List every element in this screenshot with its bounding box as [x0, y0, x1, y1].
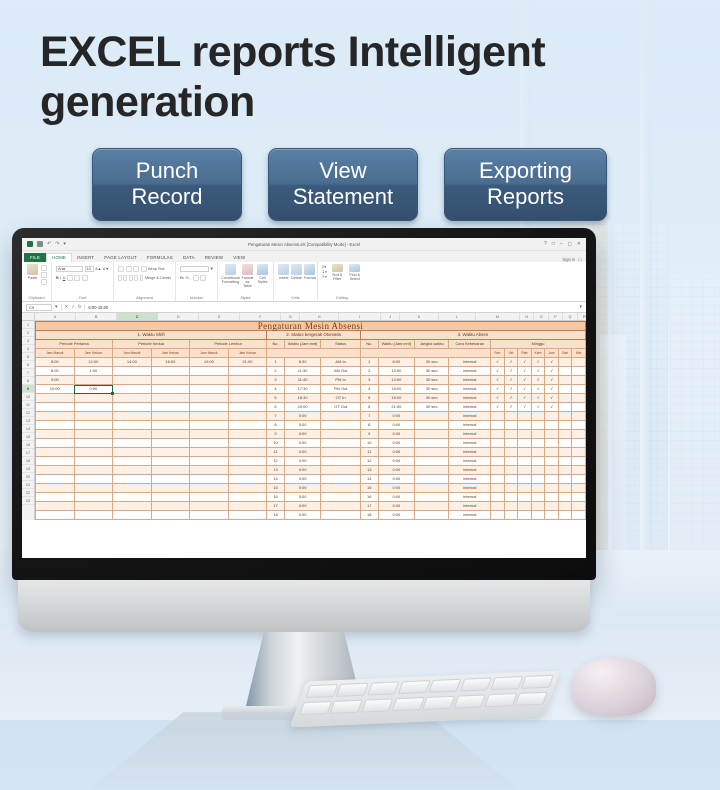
row-header-23[interactable]: 23: [22, 497, 34, 505]
absen-header-no[interactable]: No.: [360, 340, 378, 349]
shift-cell-14-2[interactable]: [113, 484, 152, 493]
absen-day-10-jum[interactable]: [545, 448, 559, 457]
absen-day-8-kam[interactable]: [531, 430, 545, 439]
shift-group-header-2[interactable]: Periode Lembur: [190, 340, 267, 349]
absen-jangka-4[interactable]: 30 sec: [415, 394, 449, 403]
absen-day-6-kam[interactable]: [531, 412, 545, 421]
absen-day-12-sel[interactable]: [504, 466, 518, 475]
absen-header-cara[interactable]: Cara Kebenaran: [449, 340, 491, 349]
absen-day-12-min[interactable]: [572, 466, 586, 475]
absen-jangka-1[interactable]: 30 sec: [415, 367, 449, 376]
absen-day-16-jum[interactable]: [545, 502, 559, 511]
absen-day-1-min[interactable]: [572, 367, 586, 376]
absen-no-16[interactable]: 17: [360, 502, 378, 511]
shift-subheader-4[interactable]: Jam Masuk: [190, 349, 229, 358]
shift-cell-11-3[interactable]: [151, 457, 190, 466]
column-header-o[interactable]: O: [534, 313, 548, 320]
absen-day-13-sab[interactable]: [558, 475, 572, 484]
column-header-b[interactable]: B: [76, 313, 117, 320]
increase-font-icon[interactable]: A▲: [95, 267, 101, 271]
underline-icon[interactable]: U: [63, 276, 66, 280]
absen-waktu-6[interactable]: 0:00: [378, 412, 414, 421]
row-header-6[interactable]: 6: [22, 361, 34, 369]
format-cells-button[interactable]: Format: [304, 264, 316, 280]
absen-day-8-sen[interactable]: [491, 430, 505, 439]
status-status-12[interactable]: [321, 466, 361, 475]
shift-cell-16-1[interactable]: [74, 502, 113, 511]
currency-icon[interactable]: €▾: [180, 276, 184, 280]
absen-day-3-min[interactable]: [572, 385, 586, 394]
absen-day-10-kam[interactable]: [531, 448, 545, 457]
shift-cell-9-5[interactable]: [228, 439, 267, 448]
absen-day-17-min[interactable]: [572, 511, 586, 520]
font-color-icon[interactable]: [82, 275, 88, 281]
absen-waktu-7[interactable]: 0:00: [378, 421, 414, 430]
row-header-12[interactable]: 12: [22, 409, 34, 417]
shift-cell-5-0[interactable]: [36, 403, 75, 412]
absen-cara-7[interactable]: internal: [449, 421, 491, 430]
sheet-title[interactable]: Pengaturan Mesin Absensi: [36, 322, 586, 331]
section-header-waktu-shift[interactable]: 1. Waktu Shift: [36, 331, 267, 340]
status-waktu-5[interactable]: 20:00: [284, 403, 320, 412]
absen-no-9[interactable]: 10: [360, 439, 378, 448]
column-header-m[interactable]: M: [476, 313, 520, 320]
shift-cell-2-0[interactable]: 9:00: [36, 376, 75, 385]
absen-waktu-13[interactable]: 0:00: [378, 475, 414, 484]
shift-cell-1-5[interactable]: [228, 367, 267, 376]
column-header-j[interactable]: J: [381, 313, 400, 320]
absen-day-3-sab[interactable]: [558, 385, 572, 394]
absen-no-7[interactable]: 8: [360, 421, 378, 430]
decrease-indent-icon[interactable]: [134, 275, 138, 281]
comma-icon[interactable]: ,: [190, 276, 191, 280]
absen-day-7-min[interactable]: [572, 421, 586, 430]
section-header-waktu-absen[interactable]: 3. Waktu Absen: [360, 331, 585, 340]
absen-day-0-sab[interactable]: [558, 358, 572, 367]
absen-day-10-sel[interactable]: [504, 448, 518, 457]
shift-cell-10-1[interactable]: [74, 448, 113, 457]
status-status-5[interactable]: OT Out: [321, 403, 361, 412]
row-header-2[interactable]: 2: [22, 329, 34, 337]
column-header-k[interactable]: K: [400, 313, 439, 320]
shift-cell-12-1[interactable]: [74, 466, 113, 475]
customize-quick-access-icon[interactable]: ▾: [63, 241, 66, 247]
absen-day-9-sab[interactable]: [558, 439, 572, 448]
percent-icon[interactable]: %: [185, 276, 188, 280]
status-waktu-12[interactable]: 0:00: [284, 466, 320, 475]
shift-cell-4-2[interactable]: [113, 394, 152, 403]
absen-waktu-9[interactable]: 0:00: [378, 439, 414, 448]
row-header-18[interactable]: 18: [22, 457, 34, 465]
save-icon[interactable]: [37, 241, 43, 247]
format-painter-icon[interactable]: [41, 279, 47, 285]
status-no-14[interactable]: 15: [267, 484, 285, 493]
shift-cell-14-4[interactable]: [190, 484, 229, 493]
absen-day-5-sen[interactable]: √: [491, 403, 505, 412]
status-waktu-4[interactable]: 18:30: [284, 394, 320, 403]
absen-day-6-sab[interactable]: [558, 412, 572, 421]
delete-cells-button[interactable]: Delete: [291, 264, 302, 280]
column-header-n[interactable]: N: [520, 313, 534, 320]
cell-styles-button[interactable]: Cell Styles: [256, 264, 269, 284]
column-header-h[interactable]: H: [300, 313, 339, 320]
absen-jangka-14[interactable]: [415, 484, 449, 493]
day-header-kam[interactable]: Kam: [531, 349, 545, 358]
status-status-6[interactable]: [321, 412, 361, 421]
absen-no-12[interactable]: 13: [360, 466, 378, 475]
row-header-7[interactable]: 7: [22, 369, 34, 377]
absen-day-6-sen[interactable]: [491, 412, 505, 421]
column-header-f[interactable]: F: [240, 313, 281, 320]
shift-cell-2-5[interactable]: [228, 376, 267, 385]
row-header-9[interactable]: 9: [22, 385, 34, 393]
shift-cell-11-1[interactable]: [74, 457, 113, 466]
shift-cell-17-5[interactable]: [228, 511, 267, 520]
absen-jangka-2[interactable]: 30 sec: [415, 376, 449, 385]
day-header-jum[interactable]: Jum: [545, 349, 559, 358]
shift-group-header-0[interactable]: Periode Pertama: [36, 340, 113, 349]
absen-jangka-11[interactable]: [415, 457, 449, 466]
align-right-icon[interactable]: [129, 275, 133, 281]
absen-no-2[interactable]: 3: [360, 376, 378, 385]
absen-day-17-kam[interactable]: [531, 511, 545, 520]
absen-cara-6[interactable]: internal: [449, 412, 491, 421]
shift-cell-6-2[interactable]: [113, 412, 152, 421]
absen-day-6-sel[interactable]: [504, 412, 518, 421]
shift-cell-15-2[interactable]: [113, 493, 152, 502]
row-header-20[interactable]: 20: [22, 473, 34, 481]
shift-cell-13-4[interactable]: [190, 475, 229, 484]
shift-cell-5-2[interactable]: [113, 403, 152, 412]
absen-day-13-sen[interactable]: [491, 475, 505, 484]
name-box[interactable]: C9: [26, 304, 52, 311]
orientation-icon[interactable]: [141, 266, 147, 272]
clear-icon[interactable]: ✎▾: [322, 275, 327, 279]
absen-day-4-sen[interactable]: √: [491, 394, 505, 403]
shift-cell-7-0[interactable]: [36, 421, 75, 430]
absen-day-7-sab[interactable]: [558, 421, 572, 430]
absen-day-9-kam[interactable]: [531, 439, 545, 448]
borders-icon[interactable]: [67, 275, 73, 281]
status-no-2[interactable]: 3: [267, 376, 285, 385]
font-name-input[interactable]: Arial: [56, 266, 83, 272]
align-top-icon[interactable]: [118, 266, 124, 272]
shift-cell-16-5[interactable]: [228, 502, 267, 511]
status-waktu-15[interactable]: 0:00: [284, 493, 320, 502]
shift-cell-13-3[interactable]: [151, 475, 190, 484]
absen-day-8-sel[interactable]: [504, 430, 518, 439]
status-waktu-14[interactable]: 0:00: [284, 484, 320, 493]
column-header-r[interactable]: R: [578, 313, 586, 320]
account-icon[interactable]: ☐: [578, 257, 582, 262]
absen-jangka-13[interactable]: [415, 475, 449, 484]
shift-cell-7-5[interactable]: [228, 421, 267, 430]
status-waktu-11[interactable]: 0:00: [284, 457, 320, 466]
shift-cell-1-4[interactable]: [190, 367, 229, 376]
row-header-16[interactable]: 16: [22, 441, 34, 449]
shift-cell-1-2[interactable]: [113, 367, 152, 376]
absen-day-5-sab[interactable]: [558, 403, 572, 412]
absen-day-10-rab[interactable]: [518, 448, 532, 457]
shift-cell-11-5[interactable]: [228, 457, 267, 466]
shift-cell-2-2[interactable]: [113, 376, 152, 385]
status-status-11[interactable]: [321, 457, 361, 466]
status-waktu-3[interactable]: 17:30: [284, 385, 320, 394]
shift-cell-10-2[interactable]: [113, 448, 152, 457]
absen-day-4-sel[interactable]: √: [504, 394, 518, 403]
column-header-i[interactable]: I: [339, 313, 381, 320]
absen-day-11-sab[interactable]: [558, 457, 572, 466]
shift-cell-6-3[interactable]: [151, 412, 190, 421]
absen-cara-1[interactable]: internal: [449, 367, 491, 376]
status-no-1[interactable]: 2: [267, 367, 285, 376]
absen-no-13[interactable]: 14: [360, 475, 378, 484]
absen-no-6[interactable]: 7: [360, 412, 378, 421]
row-header-15[interactable]: 15: [22, 433, 34, 441]
status-no-4[interactable]: 5: [267, 394, 285, 403]
absen-day-7-sen[interactable]: [491, 421, 505, 430]
absen-waktu-15[interactable]: 0:00: [378, 493, 414, 502]
absen-day-10-sen[interactable]: [491, 448, 505, 457]
absen-jangka-10[interactable]: [415, 448, 449, 457]
absen-cara-4[interactable]: internal: [449, 394, 491, 403]
row-header-4[interactable]: 4: [22, 345, 34, 353]
increase-indent-icon[interactable]: [140, 275, 144, 281]
conditional-formatting-button[interactable]: Conditional Formatting: [222, 264, 239, 284]
status-no-13[interactable]: 14: [267, 475, 285, 484]
absen-day-11-min[interactable]: [572, 457, 586, 466]
absen-day-4-jum[interactable]: √: [545, 394, 559, 403]
tab-insert[interactable]: INSERT: [72, 254, 99, 263]
status-no-12[interactable]: 13: [267, 466, 285, 475]
absen-day-12-rab[interactable]: [518, 466, 532, 475]
tab-home[interactable]: HOME: [46, 253, 72, 263]
row-header-22[interactable]: 22: [22, 489, 34, 497]
status-header-waktu[interactable]: Waktu (Jam:mnt): [284, 340, 320, 349]
absen-cara-0[interactable]: internal: [449, 358, 491, 367]
shift-cell-2-1[interactable]: [74, 376, 113, 385]
absen-day-13-jum[interactable]: [545, 475, 559, 484]
row-header-13[interactable]: 13: [22, 417, 34, 425]
status-waktu-0[interactable]: 8:30: [284, 358, 320, 367]
absen-day-1-sen[interactable]: √: [491, 367, 505, 376]
copy-icon[interactable]: [41, 272, 47, 278]
tab-formulas[interactable]: FORMULAS: [142, 254, 178, 263]
row-header-3[interactable]: 3: [22, 337, 34, 345]
absen-day-17-sab[interactable]: [558, 511, 572, 520]
shift-cell-5-5[interactable]: [228, 403, 267, 412]
status-status-17[interactable]: [321, 511, 361, 520]
shift-cell-3-3[interactable]: [151, 385, 190, 394]
row-header-14[interactable]: 14: [22, 425, 34, 433]
absen-day-3-rab[interactable]: √: [518, 385, 532, 394]
wrap-text-button[interactable]: Wrap Text: [148, 267, 164, 271]
increase-decimal-icon[interactable]: [193, 275, 199, 281]
shift-cell-17-1[interactable]: [74, 511, 113, 520]
status-waktu-16[interactable]: 0:00: [284, 502, 320, 511]
absen-day-17-sen[interactable]: [491, 511, 505, 520]
fill-color-icon[interactable]: [74, 275, 80, 281]
absen-no-17[interactable]: 18: [360, 511, 378, 520]
status-waktu-13[interactable]: 0:00: [284, 475, 320, 484]
shift-cell-6-5[interactable]: [228, 412, 267, 421]
status-no-6[interactable]: 7: [267, 412, 285, 421]
punch-record-button[interactable]: Punch Record: [92, 148, 242, 221]
absen-day-11-sen[interactable]: [491, 457, 505, 466]
absen-cara-13[interactable]: internal: [449, 475, 491, 484]
column-header-g[interactable]: G: [281, 313, 300, 320]
absen-day-9-jum[interactable]: [545, 439, 559, 448]
status-status-0[interactable]: AM In: [321, 358, 361, 367]
absen-day-8-min[interactable]: [572, 430, 586, 439]
column-header-a[interactable]: A: [35, 313, 76, 320]
view-statement-button[interactable]: View Statement: [268, 148, 418, 221]
status-no-15[interactable]: 16: [267, 493, 285, 502]
shift-cell-4-1[interactable]: [74, 394, 113, 403]
shift-cell-13-1[interactable]: [74, 475, 113, 484]
absen-cara-11[interactable]: internal: [449, 457, 491, 466]
absen-day-2-min[interactable]: [572, 376, 586, 385]
absen-day-1-jum[interactable]: √: [545, 367, 559, 376]
shift-cell-17-3[interactable]: [151, 511, 190, 520]
shift-cell-12-3[interactable]: [151, 466, 190, 475]
status-waktu-2[interactable]: 11:40: [284, 376, 320, 385]
shift-cell-14-3[interactable]: [151, 484, 190, 493]
shift-cell-7-4[interactable]: [190, 421, 229, 430]
cut-icon[interactable]: [41, 265, 47, 271]
status-status-14[interactable]: [321, 484, 361, 493]
status-status-3[interactable]: PM Out: [321, 385, 361, 394]
absen-day-17-sel[interactable]: [504, 511, 518, 520]
expand-formula-bar-icon[interactable]: ▾: [579, 304, 582, 310]
shift-cell-6-1[interactable]: [74, 412, 113, 421]
absen-cara-10[interactable]: internal: [449, 448, 491, 457]
tab-page-layout[interactable]: PAGE LAYOUT: [99, 254, 142, 263]
shift-cell-10-3[interactable]: [151, 448, 190, 457]
absen-day-11-kam[interactable]: [531, 457, 545, 466]
shift-cell-9-3[interactable]: [151, 439, 190, 448]
shift-cell-15-0[interactable]: [36, 493, 75, 502]
absen-jangka-7[interactable]: [415, 421, 449, 430]
absen-waktu-16[interactable]: 0:00: [378, 502, 414, 511]
italic-icon[interactable]: I: [60, 276, 61, 280]
status-status-8[interactable]: [321, 430, 361, 439]
absen-day-16-rab[interactable]: [518, 502, 532, 511]
absen-waktu-12[interactable]: 0:00: [378, 466, 414, 475]
shift-cell-17-2[interactable]: [113, 511, 152, 520]
shift-cell-1-3[interactable]: [151, 367, 190, 376]
absen-day-12-kam[interactable]: [531, 466, 545, 475]
status-no-17[interactable]: 18: [267, 511, 285, 520]
shift-cell-11-4[interactable]: [190, 457, 229, 466]
absen-day-15-sen[interactable]: [491, 493, 505, 502]
shift-cell-10-0[interactable]: [36, 448, 75, 457]
status-waktu-7[interactable]: 0:00: [284, 421, 320, 430]
day-header-sab[interactable]: Sab: [558, 349, 572, 358]
close-icon[interactable]: ✕: [577, 241, 581, 247]
absen-day-14-jum[interactable]: [545, 484, 559, 493]
shift-cell-3-5[interactable]: [228, 385, 267, 394]
cancel-formula-icon[interactable]: ✕: [65, 304, 69, 310]
day-header-sen[interactable]: Sen: [491, 349, 505, 358]
absen-day-15-rab[interactable]: [518, 493, 532, 502]
absen-day-7-sel[interactable]: [504, 421, 518, 430]
decrease-decimal-icon[interactable]: [200, 275, 206, 281]
absen-day-0-rab[interactable]: √: [518, 358, 532, 367]
absen-day-16-min[interactable]: [572, 502, 586, 511]
status-header-no[interactable]: No.: [267, 340, 285, 349]
status-waktu-10[interactable]: 0:00: [284, 448, 320, 457]
absen-no-5[interactable]: 6: [360, 403, 378, 412]
absen-no-1[interactable]: 2: [360, 367, 378, 376]
absen-day-13-rab[interactable]: [518, 475, 532, 484]
absen-cara-9[interactable]: internal: [449, 439, 491, 448]
status-status-13[interactable]: [321, 475, 361, 484]
absen-day-6-min[interactable]: [572, 412, 586, 421]
shift-cell-12-0[interactable]: [36, 466, 75, 475]
shift-subheader-5[interactable]: Jam Keluar: [228, 349, 267, 358]
bold-icon[interactable]: B: [56, 276, 59, 280]
absen-header-waktu[interactable]: Waktu (Jam:mnt): [378, 340, 414, 349]
absen-day-2-rab[interactable]: √: [518, 376, 532, 385]
absen-waktu-11[interactable]: 0:00: [378, 457, 414, 466]
absen-day-8-sab[interactable]: [558, 430, 572, 439]
shift-subheader-1[interactable]: Jam Keluar: [74, 349, 113, 358]
absen-jangka-16[interactable]: [415, 502, 449, 511]
status-no-16[interactable]: 17: [267, 502, 285, 511]
status-status-15[interactable]: [321, 493, 361, 502]
absen-day-8-rab[interactable]: [518, 430, 532, 439]
absen-day-12-jum[interactable]: [545, 466, 559, 475]
absen-day-1-sab[interactable]: [558, 367, 572, 376]
absen-jangka-15[interactable]: [415, 493, 449, 502]
insert-function-icon[interactable]: fx: [78, 304, 81, 310]
shift-cell-5-1[interactable]: [74, 403, 113, 412]
column-header-p[interactable]: P: [549, 313, 563, 320]
shift-cell-1-1[interactable]: 1:00: [74, 367, 113, 376]
shift-cell-9-2[interactable]: [113, 439, 152, 448]
absen-day-11-sel[interactable]: [504, 457, 518, 466]
status-status-4[interactable]: OT In: [321, 394, 361, 403]
absen-day-14-sab[interactable]: [558, 484, 572, 493]
shift-cell-8-2[interactable]: [113, 430, 152, 439]
shift-cell-4-5[interactable]: [228, 394, 267, 403]
absen-day-12-sab[interactable]: [558, 466, 572, 475]
column-header-l[interactable]: L: [439, 313, 476, 320]
absen-cara-15[interactable]: internal: [449, 493, 491, 502]
shift-cell-13-2[interactable]: [113, 475, 152, 484]
align-bottom-icon[interactable]: [133, 266, 139, 272]
shift-cell-6-0[interactable]: [36, 412, 75, 421]
row-header-10[interactable]: 10: [22, 393, 34, 401]
status-status-2[interactable]: PM In: [321, 376, 361, 385]
absen-day-17-jum[interactable]: [545, 511, 559, 520]
shift-cell-0-4[interactable]: 19:00: [190, 358, 229, 367]
tab-data[interactable]: DATA: [178, 254, 200, 263]
fill-icon[interactable]: ↧▾: [322, 270, 327, 274]
absen-day-14-sen[interactable]: [491, 484, 505, 493]
absen-no-3[interactable]: 4: [360, 385, 378, 394]
absen-cara-16[interactable]: internal: [449, 502, 491, 511]
shift-cell-3-0[interactable]: 10:00: [36, 385, 75, 394]
absen-waktu-10[interactable]: 0:00: [378, 448, 414, 457]
shift-cell-1-0[interactable]: 8:00: [36, 367, 75, 376]
absen-header-minggu[interactable]: Minggu: [491, 340, 586, 349]
shift-cell-2-3[interactable]: [151, 376, 190, 385]
absen-day-12-sen[interactable]: [491, 466, 505, 475]
absen-jangka-0[interactable]: 30 sec: [415, 358, 449, 367]
undo-icon[interactable]: ↶: [47, 241, 51, 247]
